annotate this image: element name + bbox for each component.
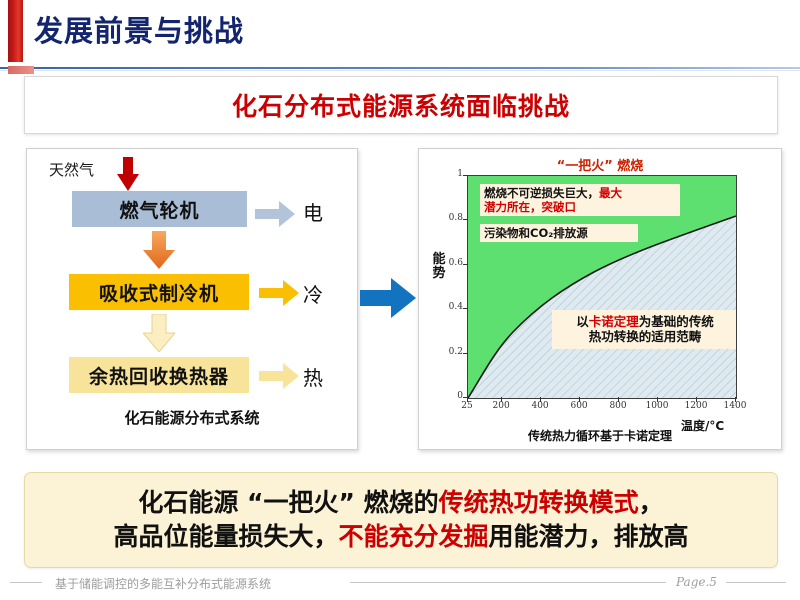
chart-x-tick-label: 1000 (637, 401, 677, 411)
process-box-absorption-chiller[interactable]: 吸收式制冷机 (69, 274, 249, 310)
chart-y-tick-label: 0.4 (437, 302, 463, 312)
chart-x-tick-label: 200 (481, 401, 521, 411)
chart-caption: 传统热力循环基于卡诺定理 (419, 427, 781, 444)
chart-x-tick-label: 1200 (676, 401, 716, 411)
chart-y-tick-mark (463, 308, 468, 309)
chart-y-tick-label: 1 (437, 169, 463, 179)
right-arrow-icon (360, 278, 416, 318)
chart-title: “一把火” 燃烧 (419, 155, 781, 174)
chart-plot-wrapper: 燃烧不可逆损失巨大，最大 潜力所在，突破口 污染物和CO₂排放源 以卡诺定理为基… (467, 175, 735, 397)
anno3-red-text: 卡诺定理 (589, 314, 639, 329)
conclusion-line-2: 高品位能量损失大，不能充分发掘用能潜力，排放高 (113, 520, 688, 554)
process-box-label: 燃气轮机 (119, 196, 199, 223)
chart-y-tick-mark (463, 264, 468, 265)
diagram-source-label: 天然气 (49, 159, 94, 180)
anno3-pre-text: 以 (576, 314, 589, 329)
footer-page-number: Page.5 (676, 575, 717, 589)
output-label-heat: 热 (303, 362, 323, 391)
chart-y-tick-label: 0.6 (437, 258, 463, 268)
chart-x-tick-mark (618, 397, 619, 402)
slide-footer: 基于储能调控的多能互补分布式能源系统 Page.5 (0, 572, 800, 600)
process-box-label: 余热回收换热器 (89, 362, 229, 389)
chart-x-tick-mark (657, 397, 658, 402)
conclusion-text-run: 高品位能量损失大， (113, 522, 338, 551)
conclusion-box: 化石能源 “一把火” 燃烧的传统热功转换模式， 高品位能量损失大，不能充分发掘用… (24, 472, 778, 568)
chart-annotation-irreversible-loss: 燃烧不可逆损失巨大，最大 潜力所在，突破口 (480, 184, 680, 216)
diagram-caption: 化石能源分布式系统 (27, 407, 357, 428)
process-box-gas-turbine[interactable]: 燃气轮机 (72, 191, 247, 227)
chart-y-tick-label: 0 (437, 391, 463, 401)
output-label-cooling: 冷 (303, 279, 323, 308)
chart-x-tick-mark (467, 397, 468, 402)
footer-rule-left (10, 582, 42, 583)
section-title-card: 化石分布式能源系统面临挑战 (24, 76, 778, 134)
footer-rule-right (726, 582, 786, 583)
output-arrow-electricity-icon (255, 201, 295, 227)
conclusion-text-run: 不能充分发掘 (338, 522, 488, 551)
slide-header: 发展前景与挑战 (0, 0, 800, 72)
output-arrow-cooling-icon (259, 280, 299, 306)
anno3-line2-text: 热功转换的适用范畴 (589, 329, 702, 344)
header-divider (0, 67, 800, 69)
chart-y-tick-mark (463, 219, 468, 220)
carnot-chart-panel: “一把火” 燃烧 能势 燃烧不可逆损失巨大，最大 潜力所在，突破口 (418, 148, 782, 450)
conclusion-text-run: 用能潜力，排放高 (489, 522, 689, 551)
flow-arrow-chiller-to-heatexchanger-icon (143, 314, 175, 352)
conclusion-text-run: 传统热功转换模式 (439, 488, 639, 517)
chart-x-tick-label: 400 (520, 401, 560, 411)
output-arrow-heat-icon (259, 363, 299, 389)
chart-y-tick-mark (463, 353, 468, 354)
footer-rule-middle (350, 582, 666, 583)
anno3-post-text: 为基础的传统 (639, 314, 714, 329)
fossil-system-diagram-panel: 天然气 燃气轮机 电 吸收式制冷机 冷 余热回收换热器 热 化石能源分布式系统 (26, 148, 358, 450)
conclusion-line-1: 化石能源 “一把火” 燃烧的传统热功转换模式， (138, 486, 663, 520)
footer-text: 基于储能调控的多能互补分布式能源系统 (55, 575, 271, 592)
anno1-red-text2: 潜力所在，突破口 (484, 200, 576, 214)
chart-x-tick-mark (501, 397, 502, 402)
chart-x-tick-mark (696, 397, 697, 402)
chart-x-tick-mark (735, 397, 736, 402)
chart-plot-area: 燃烧不可逆损失巨大，最大 潜力所在，突破口 污染物和CO₂排放源 以卡诺定理为基… (467, 175, 737, 399)
header-accent-bar (8, 0, 23, 62)
chart-annotation-carnot-scope: 以卡诺定理为基础的传统 热功转换的适用范畴 (552, 310, 737, 349)
process-box-heat-recovery-exchanger[interactable]: 余热回收换热器 (69, 357, 249, 393)
section-title-text: 化石分布式能源系统面临挑战 (232, 87, 570, 123)
conclusion-text-run: 化石能源 “一把火” 燃烧的 (138, 488, 438, 517)
chart-y-tick-mark (463, 175, 468, 176)
anno1-red-text: 最大 (599, 186, 622, 200)
header-divider-secondary (0, 70, 800, 71)
chart-annotation-pollutant-source: 污染物和CO₂排放源 (480, 224, 638, 242)
conclusion-text-run: ， (639, 488, 664, 517)
header-accent-square (8, 66, 34, 74)
chart-region-below-curve (468, 216, 736, 398)
output-label-electricity: 电 (303, 197, 323, 226)
anno1-black-text: 燃烧不可逆损失巨大， (484, 186, 599, 200)
chart-y-tick-label: 0.2 (437, 347, 463, 357)
process-box-label: 吸收式制冷机 (99, 279, 219, 306)
chart-y-tick-label: 0.8 (437, 213, 463, 223)
flow-arrow-turbine-to-chiller-icon (143, 231, 175, 269)
chart-x-tick-label: 600 (559, 401, 599, 411)
chart-x-tick-label: 1400 (715, 401, 755, 411)
chart-x-tick-mark (540, 397, 541, 402)
chart-x-tick-mark (579, 397, 580, 402)
red-down-arrow-icon (117, 157, 139, 191)
page-title: 发展前景与挑战 (34, 8, 244, 50)
chart-x-tick-label: 800 (598, 401, 638, 411)
